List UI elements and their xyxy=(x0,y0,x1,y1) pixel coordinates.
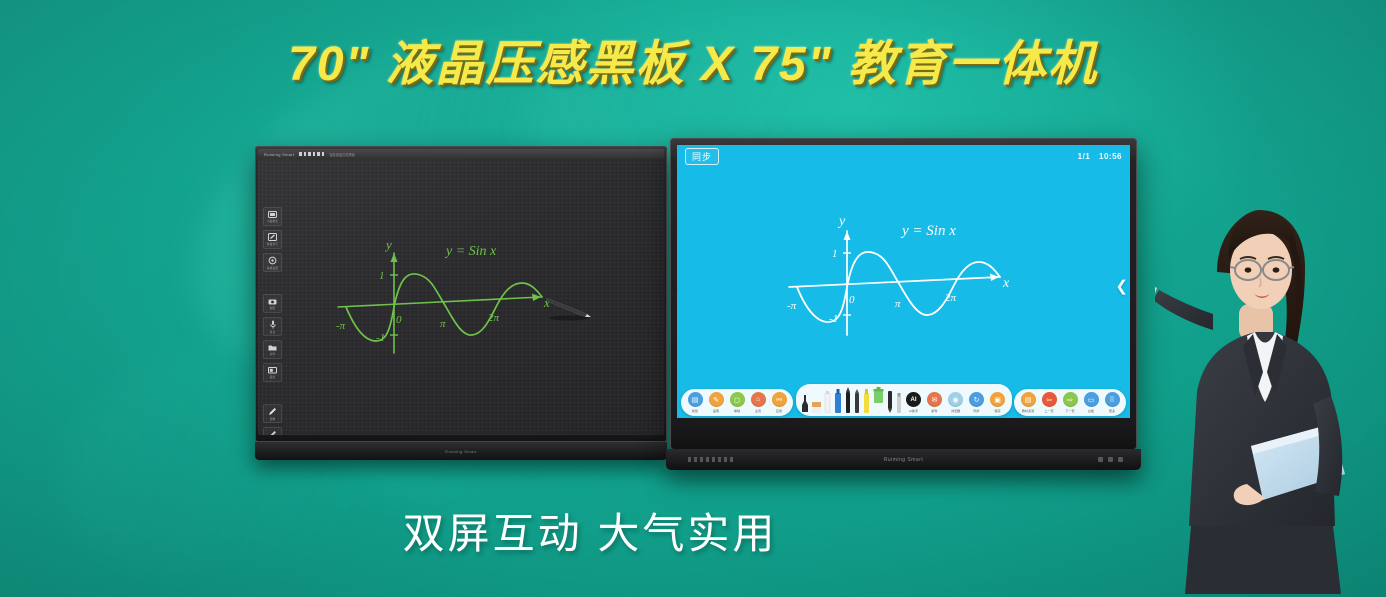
toolbar-right[interactable]: ▤ 教材资源 ⇦ 上一页 ⇨ 下一页 ▭ 白板 xyxy=(1014,389,1126,416)
rail-label-settings: 系统设置 xyxy=(267,266,278,270)
chalk-white-icon[interactable] xyxy=(824,387,831,413)
new-page-icon: ▤ xyxy=(688,392,703,407)
panel-screen[interactable]: 同步 1/1 10:56 y x xyxy=(677,145,1130,418)
panel-ports xyxy=(688,457,733,462)
rail-item-folder[interactable]: 文件 xyxy=(263,340,282,359)
rail-label-pen: 画笔 xyxy=(270,417,276,421)
toolbar-right-label-3: 白板 xyxy=(1088,408,1094,413)
presenter-arm xyxy=(1155,290,1213,330)
chart-ytick-1: 1 xyxy=(379,270,385,282)
rail-item-settings[interactable]: 系统设置 xyxy=(263,253,282,272)
save-icon: ▣ xyxy=(990,392,1005,407)
toolbar-right-label-0: 教材资源 xyxy=(1022,408,1034,413)
blackboard-model: 智能液晶压感黑板 xyxy=(329,152,355,157)
toolbar-right-item-1[interactable]: ⇦ 上一页 xyxy=(1040,392,1058,413)
toolbar-right-item-4[interactable]: ⠿ 更多 xyxy=(1103,392,1121,413)
toolbar-center-app-3[interactable]: ↻ 同步 xyxy=(968,392,986,413)
chart-ytick--1: -1 xyxy=(376,332,385,344)
toolbar-center-app-1[interactable]: ✉ 邮件 xyxy=(926,392,944,413)
page-indicator: 1/1 xyxy=(1078,152,1091,161)
blackboard-indicator-dots xyxy=(299,152,324,156)
toolbar-center-app-label-4: 保存 xyxy=(994,408,1000,413)
toolbar-left-item-1[interactable]: ✎ 画笔 xyxy=(707,392,725,413)
home-icon: ⌂ xyxy=(751,392,766,407)
toolbar-center-app-label-0: AI助手 xyxy=(909,408,918,413)
rail-item-window[interactable]: 小窗模式 xyxy=(263,207,282,226)
presenter-person xyxy=(1155,196,1385,597)
blackboard-screen[interactable]: 小窗模式 快速书写 系统设置 xyxy=(258,159,664,435)
panel-chart-origin: 0 xyxy=(849,294,855,306)
refresh-icon: ↻ xyxy=(969,392,984,407)
rail-item-note[interactable]: 快速书写 xyxy=(263,230,282,249)
brush-icon[interactable] xyxy=(896,387,902,413)
chevron-left-icon[interactable]: ❯ xyxy=(677,279,680,294)
panel-chart-ytick--1: -1 xyxy=(829,313,838,325)
toolbar-left-item-4[interactable]: ⚯ 应用 xyxy=(770,392,788,413)
toolbar-left-label-3: 主页 xyxy=(755,408,761,413)
toolbar-right-item-3[interactable]: ▭ 白板 xyxy=(1082,392,1100,413)
toolbar-left-label-4: 应用 xyxy=(776,408,782,413)
blackboard-device: Ruiming Smart 智能液晶压感黑板 小窗模式 xyxy=(255,146,667,442)
clock-label: 10:56 xyxy=(1099,152,1122,161)
stylus-icon[interactable] xyxy=(887,387,893,413)
sine-chart-panel: y x 1 -1 0 -π π 2π y = Sin x xyxy=(787,207,1027,343)
stylus-pen xyxy=(545,295,595,326)
toolbar-center-app-0[interactable]: AI AI助手 xyxy=(905,392,923,413)
folder-icon xyxy=(268,344,277,351)
eraser-icon: ◻ xyxy=(730,392,745,407)
rail-label-note: 快速书写 xyxy=(267,242,278,246)
rail-label-screen: 投屏 xyxy=(270,375,276,379)
next-icon: ⇨ xyxy=(1063,392,1078,407)
rail-item-screen[interactable]: 投屏 xyxy=(263,363,282,382)
panel-chart-ytick-1: 1 xyxy=(832,248,838,260)
toolbar-center-app-label-3: 同步 xyxy=(973,408,979,413)
mic-icon xyxy=(270,320,276,329)
panel-bottom-logo: Ruiming Smart xyxy=(884,457,924,463)
chart-ylabel: y xyxy=(384,237,392,252)
apps-icon: ⠿ xyxy=(1105,392,1120,407)
panel-chart-xtick--pi: -π xyxy=(787,300,797,312)
rail-item-pen[interactable]: 画笔 xyxy=(263,404,282,423)
pen2-icon xyxy=(268,430,277,436)
blackboard-bottom-bezel: Ruiming Smart xyxy=(255,442,667,460)
chart-xtick-2pi: 2π xyxy=(488,312,500,324)
chart-origin: 0 xyxy=(396,314,402,326)
chart-xtick--pi: -π xyxy=(336,320,346,332)
toolbar-right-item-0[interactable]: ▤ 教材资源 xyxy=(1019,392,1037,413)
rail-label-mic: 录音 xyxy=(270,330,276,334)
pen-icon: ✎ xyxy=(709,392,724,407)
toolbar-center[interactable]: AI AI助手 ✉ 邮件 ◉ 浏览器 ↻ 同步 xyxy=(796,384,1012,416)
toolbar-center-app-4[interactable]: ▣ 保存 xyxy=(989,392,1007,413)
toolbar-left-label-1: 画笔 xyxy=(713,408,719,413)
rail-label-folder: 文件 xyxy=(270,352,276,356)
toolbar-right-label-4: 更多 xyxy=(1109,408,1115,413)
pen-black-icon[interactable] xyxy=(845,387,851,413)
marker-blue-icon[interactable] xyxy=(834,387,842,413)
toolbar-left-label-0: 新建 xyxy=(692,408,698,413)
toolbar-center-app-label-1: 邮件 xyxy=(931,408,937,413)
rail-label-window: 小窗模式 xyxy=(267,219,278,223)
rail-divider xyxy=(263,276,285,290)
rail-item-chalk[interactable]: 粉笔 xyxy=(263,427,282,435)
panel-controls[interactable] xyxy=(1098,457,1123,462)
panel-status: 1/1 10:56 xyxy=(1072,152,1122,161)
chart-xtick-pi: π xyxy=(440,318,446,330)
toolbar-right-item-2[interactable]: ⇨ 下一页 xyxy=(1061,392,1079,413)
blackboard-bottom-logo: Ruiming Smart xyxy=(445,449,477,454)
panel-chart-xtick-2pi: 2π xyxy=(945,292,957,304)
panel-chart-xtick-pi: π xyxy=(895,298,901,310)
toolbar-left-item-0[interactable]: ▤ 新建 xyxy=(686,392,704,413)
ink-bottle-icon[interactable] xyxy=(801,387,809,413)
link-icon: ⚯ xyxy=(772,392,787,407)
toolbar-left-item-3[interactable]: ⌂ 主页 xyxy=(749,392,767,413)
note-icon xyxy=(268,233,277,241)
blackboard-toolbar-rail: 小窗模式 快速书写 系统设置 xyxy=(263,207,285,435)
back-icon: ⇦ xyxy=(1042,392,1057,407)
rail-label-camera: 拍照 xyxy=(270,306,276,310)
chevron-right-icon[interactable]: ❮ xyxy=(1115,279,1128,294)
board-icon: ▭ xyxy=(1084,392,1099,407)
camera-icon xyxy=(268,298,277,305)
pen-icon xyxy=(268,407,277,416)
rail-item-mic[interactable]: 录音 xyxy=(263,317,282,336)
toolbar-right-label-2: 下一页 xyxy=(1065,408,1074,413)
eraser-block-icon[interactable] xyxy=(812,387,821,413)
sine-chart-blackboard: y x 1 -1 0 -π π 2π y = Sin x xyxy=(336,231,566,361)
pen-dark-icon[interactable] xyxy=(854,387,860,413)
ai-icon: AI xyxy=(906,392,921,407)
compass-icon: ◉ xyxy=(948,392,963,407)
panel-bottom-bezel: Ruiming Smart xyxy=(666,449,1141,470)
toolbar-center-app-2[interactable]: ◉ 浏览器 xyxy=(947,392,965,413)
sync-button[interactable]: 同步 xyxy=(685,148,719,165)
chart-equation: y = Sin x xyxy=(444,244,497,259)
panel-chart-xlabel: x xyxy=(1002,276,1010,291)
presenter-skirt xyxy=(1185,526,1341,594)
screen-icon xyxy=(268,367,277,374)
settings-icon xyxy=(268,256,277,265)
panel-toolbars: ▤ 新建 ✎ 画笔 ◻ 擦除 ⌂ 主页 xyxy=(677,382,1130,418)
trash-icon[interactable] xyxy=(873,387,884,413)
rail-divider-2 xyxy=(263,386,285,400)
page-title: 70" 液晶压感黑板 X 75" 教育一体机 xyxy=(0,24,1386,94)
book-icon: ▤ xyxy=(1021,392,1036,407)
panel-chart-ylabel: y xyxy=(837,214,846,229)
panel-chart-equation: y = Sin x xyxy=(900,223,956,239)
blackboard-brand: Ruiming Smart xyxy=(264,152,294,157)
toolbar-left-label-2: 擦除 xyxy=(734,408,740,413)
mail-icon: ✉ xyxy=(927,392,942,407)
panel-topbar: 同步 1/1 10:56 xyxy=(677,145,1130,167)
toolbar-left[interactable]: ▤ 新建 ✎ 画笔 ◻ 擦除 ⌂ 主页 xyxy=(681,389,793,416)
rail-item-camera[interactable]: 拍照 xyxy=(263,294,282,313)
blackboard-topbar: Ruiming Smart 智能液晶压感黑板 xyxy=(258,149,664,159)
toolbar-center-app-label-2: 浏览器 xyxy=(951,408,960,413)
highlighter-yellow-icon[interactable] xyxy=(863,387,870,413)
toolbar-left-item-2[interactable]: ◻ 擦除 xyxy=(728,392,746,413)
window-icon xyxy=(268,211,277,218)
interactive-panel-device: 同步 1/1 10:56 y x xyxy=(670,138,1137,450)
toolbar-right-label-1: 上一页 xyxy=(1044,408,1053,413)
page-subtitle: 双屏互动 大气实用 xyxy=(0,500,1180,561)
